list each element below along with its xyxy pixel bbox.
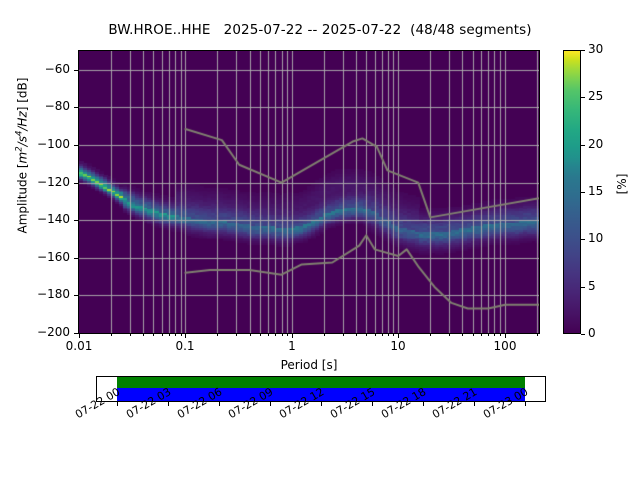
x-minor-tick-mark xyxy=(143,334,144,336)
colorbar-tick-mark xyxy=(581,97,585,98)
y-tick-mark xyxy=(74,70,78,71)
colorbar-tick-label: 10 xyxy=(588,231,628,245)
x-minor-tick-mark xyxy=(462,334,463,336)
colorbar-tick-mark xyxy=(581,239,585,240)
x-tick-label: 1 xyxy=(262,339,322,353)
timeline-tick-mark xyxy=(525,402,526,406)
y-tick-label: −100 xyxy=(10,137,70,151)
x-minor-tick-mark xyxy=(217,334,218,336)
timeline-tick-mark xyxy=(321,402,322,406)
y-tick-mark xyxy=(74,333,78,334)
x-minor-tick-mark xyxy=(449,334,450,336)
x-minor-tick-mark xyxy=(356,334,357,336)
colorbar xyxy=(563,50,581,334)
y-tick-mark xyxy=(74,107,78,108)
colorbar-label: [%] xyxy=(615,154,629,214)
colorbar-tick-mark xyxy=(581,192,585,193)
x-minor-tick-mark xyxy=(287,334,288,336)
x-minor-tick-mark xyxy=(494,334,495,336)
colorbar-tick-label: 20 xyxy=(588,137,628,151)
timeline-tick-mark xyxy=(219,402,220,406)
x-tick-label: 100 xyxy=(475,339,535,353)
colorbar-tick-mark xyxy=(581,50,585,51)
x-minor-tick-mark xyxy=(343,334,344,336)
colorbar-tick-label: 5 xyxy=(588,279,628,293)
x-minor-tick-mark xyxy=(169,334,170,336)
x-minor-tick-mark xyxy=(236,334,237,336)
x-minor-tick-mark xyxy=(488,334,489,336)
x-tick-mark xyxy=(398,334,399,338)
colorbar-tick-label: 30 xyxy=(588,42,628,56)
x-minor-tick-mark xyxy=(324,334,325,336)
colorbar-tick-label: 25 xyxy=(588,89,628,103)
x-minor-tick-mark xyxy=(481,334,482,336)
x-minor-tick-mark xyxy=(181,334,182,336)
x-tick-mark xyxy=(79,334,80,338)
ppsd-figure: BW.HROE..HHE 2025-07-22 -- 2025-07-22 (4… xyxy=(0,0,640,480)
y-tick-label: −180 xyxy=(10,287,70,301)
x-tick-mark xyxy=(505,334,506,338)
y-tick-label: −140 xyxy=(10,212,70,226)
x-minor-tick-mark xyxy=(382,334,383,336)
x-minor-tick-mark xyxy=(130,334,131,336)
x-minor-tick-mark xyxy=(111,334,112,336)
x-tick-label: 10 xyxy=(368,339,428,353)
x-minor-tick-mark xyxy=(500,334,501,336)
y-tick-mark xyxy=(74,258,78,259)
y-tick-label: −80 xyxy=(10,99,70,113)
x-minor-tick-mark xyxy=(268,334,269,336)
timeline-tick-mark xyxy=(168,402,169,406)
x-minor-tick-mark xyxy=(153,334,154,336)
plot-title: BW.HROE..HHE 2025-07-22 -- 2025-07-22 (4… xyxy=(0,22,640,38)
x-tick-mark xyxy=(292,334,293,338)
ppsd-plot-area xyxy=(78,50,540,334)
y-tick-label: −120 xyxy=(10,175,70,189)
y-tick-mark xyxy=(74,183,78,184)
y-tick-label: −160 xyxy=(10,250,70,264)
colorbar-tick-mark xyxy=(581,334,585,335)
timeline-tick-mark xyxy=(474,402,475,406)
timeline-tick-mark xyxy=(117,402,118,406)
x-minor-tick-mark xyxy=(162,334,163,336)
y-tick-label: −60 xyxy=(10,62,70,76)
colorbar-tick-mark xyxy=(581,287,585,288)
x-minor-tick-mark xyxy=(260,334,261,336)
timeline-tick-mark xyxy=(423,402,424,406)
y-tick-mark xyxy=(74,145,78,146)
x-minor-tick-mark xyxy=(282,334,283,336)
colorbar-tick-label: 0 xyxy=(588,326,628,340)
x-minor-tick-mark xyxy=(375,334,376,336)
x-minor-tick-mark xyxy=(250,334,251,336)
x-tick-mark xyxy=(185,334,186,338)
x-minor-tick-mark xyxy=(473,334,474,336)
y-tick-mark xyxy=(74,220,78,221)
x-minor-tick-mark xyxy=(366,334,367,336)
timeline-tick-mark xyxy=(372,402,373,406)
y-tick-label: −200 xyxy=(10,325,70,339)
timeline-tick-mark xyxy=(270,402,271,406)
x-minor-tick-mark xyxy=(275,334,276,336)
colorbar-tick-mark xyxy=(581,145,585,146)
x-minor-tick-mark xyxy=(388,334,389,336)
x-tick-label: 0.01 xyxy=(49,339,109,353)
x-axis-label: Period [s] xyxy=(78,358,540,372)
y-tick-mark xyxy=(74,295,78,296)
x-minor-tick-mark xyxy=(430,334,431,336)
x-tick-label: 0.1 xyxy=(155,339,215,353)
x-minor-tick-mark xyxy=(537,334,538,336)
x-minor-tick-mark xyxy=(393,334,394,336)
x-minor-tick-mark xyxy=(175,334,176,336)
ppsd-histogram-canvas xyxy=(79,51,539,333)
